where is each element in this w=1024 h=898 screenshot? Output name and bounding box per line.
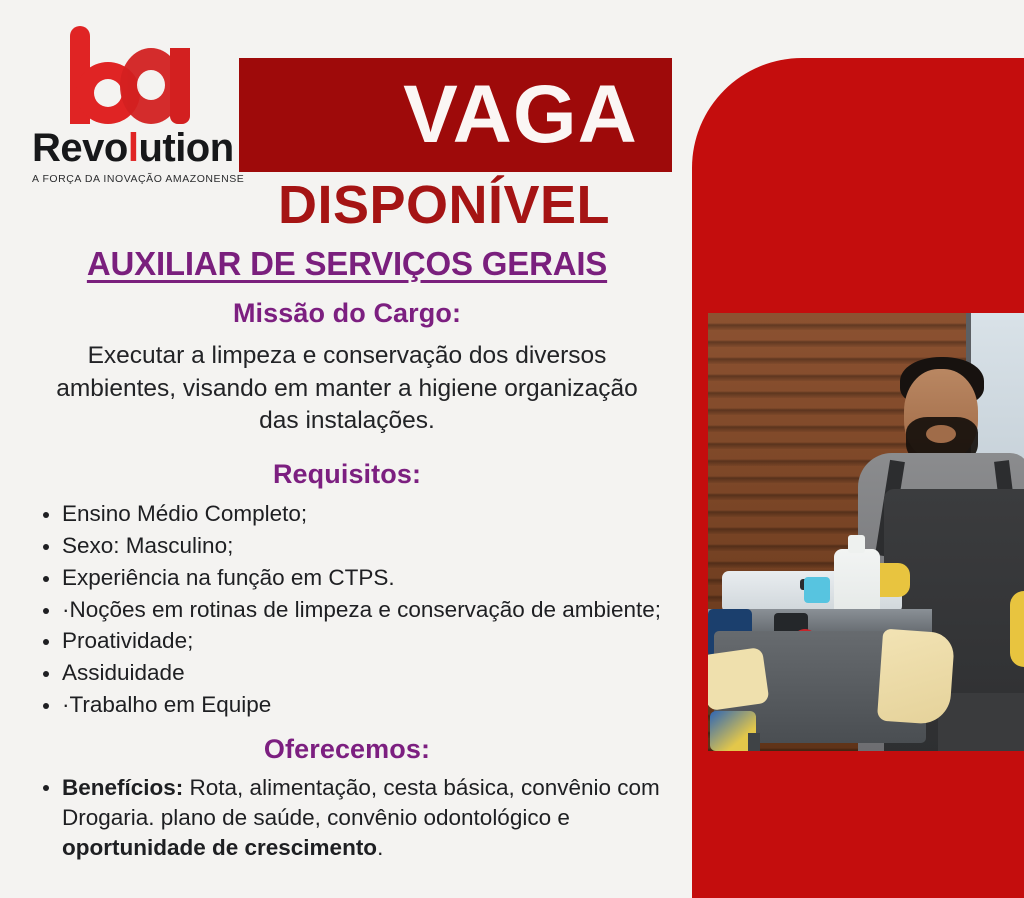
- list-item: Ensino Médio Completo;: [38, 500, 672, 529]
- list-item: ·Trabalho em Equipe: [38, 691, 672, 720]
- page-title: AUXILIAR DE SERVIÇOS GERAIS: [22, 246, 672, 282]
- logo-wordmark-accent: l: [128, 126, 139, 170]
- company-logo: Revolution A FORÇA DA INOVAÇÃO AMAZONENS…: [32, 26, 218, 176]
- list-item: Assiduidade: [38, 659, 672, 688]
- list-item: Benefícios: Rota, alimentação, cesta bás…: [38, 773, 672, 863]
- mission-text: Executar a limpeza e conservação dos div…: [22, 340, 672, 437]
- list-item: Experiência na função em CTPS.: [38, 564, 672, 593]
- yellow-cloth-secondary: [708, 647, 770, 711]
- logo-tagline: A FORÇA DA INOVAÇÃO AMAZONENSE: [32, 173, 218, 185]
- disponivel-headline: DISPONÍVEL: [239, 178, 649, 232]
- list-item: ·Noções em rotinas de limpeza e conserva…: [38, 596, 672, 625]
- blue-bottle: [804, 577, 830, 603]
- ba-monogram-icon: [70, 26, 220, 126]
- glove-right-icon: [1010, 591, 1024, 667]
- vaga-headline: VAGA: [239, 74, 672, 156]
- logo-wordmark-suffix: ution: [138, 126, 233, 170]
- offers-list: Benefícios: Rota, alimentação, cesta bás…: [22, 773, 672, 863]
- yellow-cloth: [877, 629, 955, 726]
- job-content: AUXILIAR DE SERVIÇOS GERAIS Missão do Ca…: [22, 246, 672, 863]
- vaga-banner: VAGA: [239, 58, 672, 172]
- offers-heading: Oferecemos:: [22, 734, 672, 765]
- requirements-heading: Requisitos:: [22, 459, 672, 490]
- requirements-list: Ensino Médio Completo; Sexo: Masculino; …: [22, 500, 672, 720]
- list-item: Proatividade;: [38, 627, 672, 656]
- logo-wordmark-prefix: Revo: [32, 126, 128, 170]
- person-legs: [938, 693, 1024, 751]
- job-posting-poster: Revolution A FORÇA DA INOVAÇÃO AMAZONENS…: [0, 0, 1024, 898]
- benefits-label: Benefícios:: [62, 775, 183, 800]
- logo-wordmark: Revolution: [32, 128, 218, 168]
- benefits-highlight: oportunidade de crescimento: [62, 835, 377, 860]
- benefits-text-end: .: [377, 835, 383, 860]
- monogram-letter-a: [120, 48, 196, 124]
- mission-heading: Missão do Cargo:: [22, 298, 672, 329]
- cart-wheel: [748, 733, 760, 751]
- list-item: Sexo: Masculino;: [38, 532, 672, 561]
- worker-photo: [708, 313, 1024, 751]
